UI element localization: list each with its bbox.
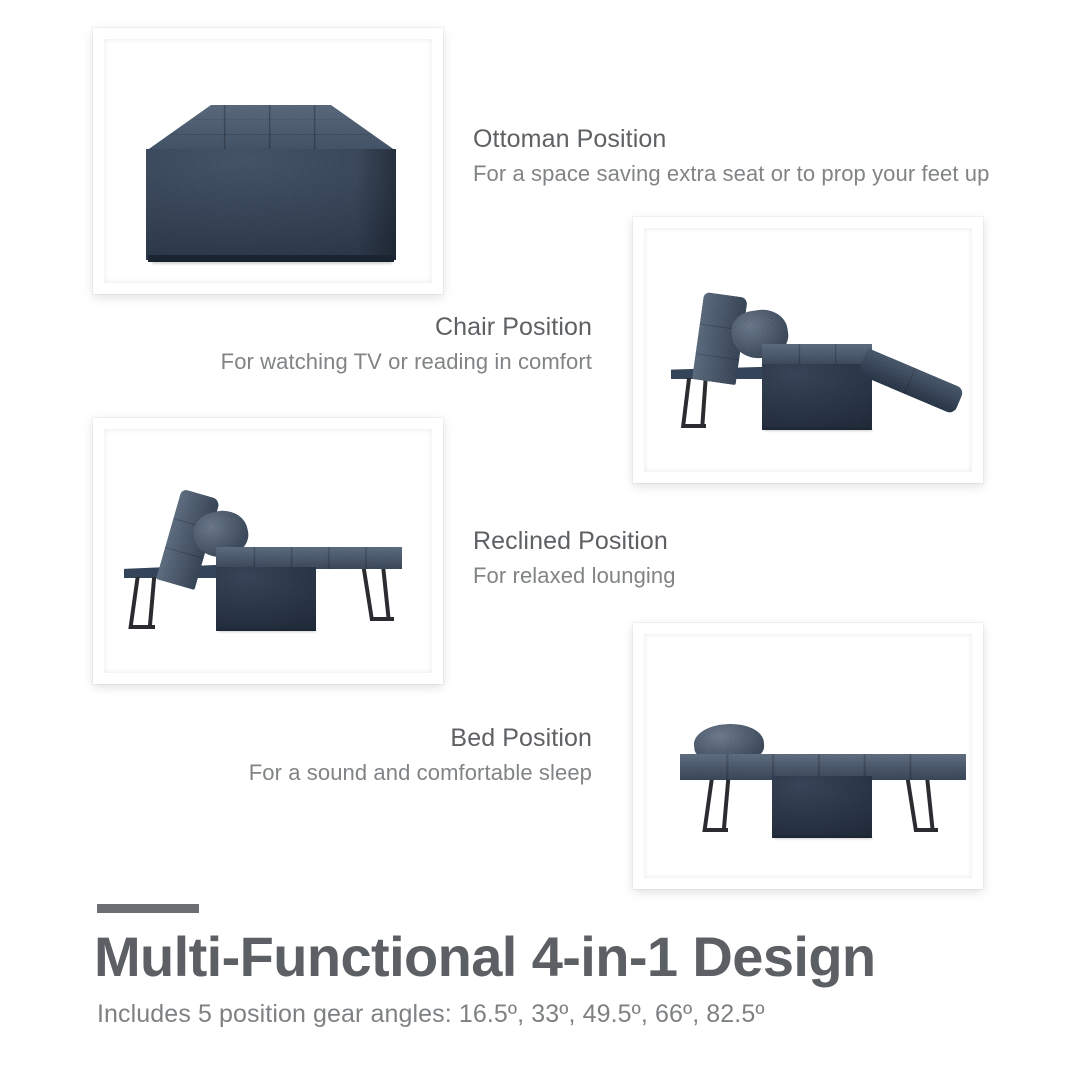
bed-base-block [772,776,872,838]
tuft-seam [857,348,965,415]
reclined-rear-leg [128,577,139,629]
reclined-description: For relaxed lounging [473,562,676,591]
tuft-seam [762,344,872,366]
chair-rear-leg [681,378,691,428]
bed-right-leg-foot [914,828,938,832]
ottoman-description: For a space saving extra seat or to prop… [473,160,989,189]
ottoman-side-shading [356,149,396,260]
tuft-seam [216,547,402,569]
bed-floor-shadow [774,836,872,839]
reclined-position-photo [93,418,443,684]
infographic-canvas: Ottoman Position For a space saving extr… [0,0,1080,1080]
page-title: Multi-Functional 4-in-1 Design [94,928,876,985]
bed-right-leg-inner [925,780,934,830]
gear-angles-text: Includes 5 position gear angles: 16.5º, … [97,1000,765,1029]
bed-left-leg-inner [722,780,730,830]
bed-description: For a sound and comfortable sleep [0,759,592,788]
photo-inner [644,228,972,472]
ottoman-floor-shadow [152,261,392,264]
chair-rear-leg-foot [684,424,706,428]
bed-left-leg-foot [704,828,728,832]
accent-bar [97,904,199,913]
bed-position-photo [633,623,983,889]
bed-label-block: Bed Position For a sound and comfortable… [0,724,592,787]
chair-rear-leg-inner [700,378,707,426]
chair-description: For watching TV or reading in comfort [0,348,592,377]
photo-inner [644,634,972,878]
reclined-front-leg-foot [370,617,394,621]
chair-position-photo [633,217,983,483]
chair-label-block: Chair Position For watching TV or readin… [0,313,592,376]
reclined-rear-leg-foot [131,625,155,629]
reclined-floor-shadow [218,629,316,632]
ottoman-label-block: Ottoman Position For a space saving extr… [473,125,989,188]
reclined-base-block [216,567,316,631]
tuft-seam [146,105,396,151]
reclined-label-block: Reclined Position For relaxed lounging [473,527,676,590]
reclined-front-leg-inner [381,569,390,619]
chair-seat-base [762,364,872,430]
reclined-title: Reclined Position [473,527,676,556]
photo-inner [104,39,432,283]
reclined-rear-leg-inner [148,577,156,627]
photo-inner [104,429,432,673]
ottoman-title: Ottoman Position [473,125,989,154]
chair-title: Chair Position [0,313,592,342]
bed-left-leg [702,780,713,832]
bed-title: Bed Position [0,724,592,753]
bed-right-leg [906,780,918,832]
chair-floor-shadow [764,428,872,431]
reclined-front-leg [362,569,374,621]
ottoman-position-photo [93,28,443,294]
